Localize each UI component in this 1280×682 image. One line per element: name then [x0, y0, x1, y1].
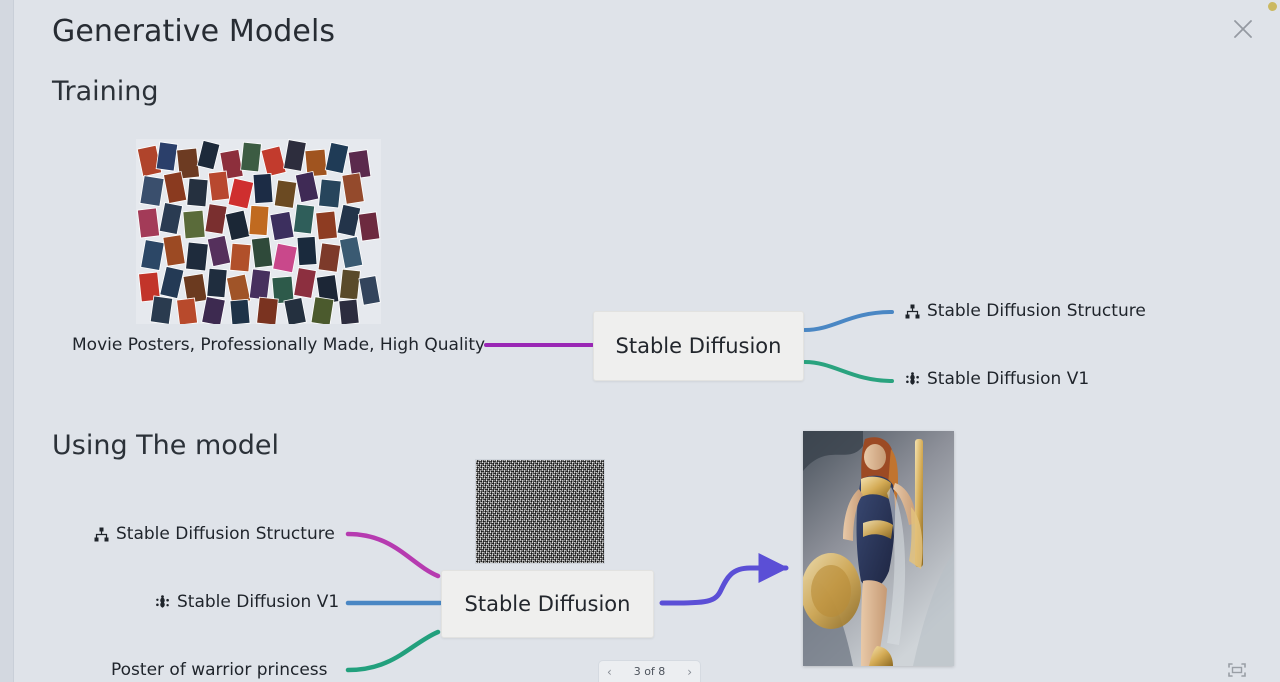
using-input-structure[interactable]: Stable Diffusion Structure [94, 526, 335, 543]
training-center-node-label: Stable Diffusion [616, 334, 782, 358]
using-center-node-label: Stable Diffusion [465, 592, 631, 616]
prev-page-button[interactable]: ‹ [607, 665, 612, 679]
training-output-v1-label: Stable Diffusion V1 [927, 371, 1089, 388]
training-output-structure-label: Stable Diffusion Structure [927, 303, 1146, 320]
generated-output-image [803, 431, 954, 666]
structure-icon [905, 304, 920, 319]
edge-prompt-to-node-using [348, 632, 438, 670]
training-input-label: Movie Posters, Professionally Made, High… [72, 337, 485, 354]
edge-structure-to-node [348, 534, 438, 576]
training-output-v1[interactable]: Stable Diffusion V1 [905, 371, 1089, 388]
training-output-structure[interactable]: Stable Diffusion Structure [905, 303, 1146, 320]
edge-node-to-v1 [805, 362, 892, 381]
status-dot [1268, 2, 1277, 11]
pagination[interactable]: ‹ 3 of 8 › [598, 660, 701, 682]
using-input-structure-label: Stable Diffusion Structure [116, 526, 335, 543]
using-center-node[interactable]: Stable Diffusion [441, 570, 654, 638]
edge-node-to-output [662, 568, 786, 603]
left-edge-strip [0, 0, 14, 682]
edge-node-to-structure [805, 312, 892, 330]
noise-texture [476, 460, 604, 563]
page-title: Generative Models [52, 14, 335, 49]
training-input-text: Movie Posters, Professionally Made, High… [72, 337, 485, 354]
slide-canvas: Generative Models Training Using The mod… [14, 0, 1280, 682]
using-input-v1-label: Stable Diffusion V1 [177, 594, 339, 611]
section-heading-training: Training [52, 76, 159, 107]
using-input-prompt-label: Poster of warrior princess [111, 662, 328, 679]
using-input-v1[interactable]: Stable Diffusion V1 [155, 594, 339, 611]
training-center-node[interactable]: Stable Diffusion [593, 311, 804, 381]
section-heading-using: Using The model [52, 430, 279, 461]
fullscreen-icon[interactable] [1226, 660, 1248, 680]
model-icon [905, 372, 920, 387]
page-indicator: 3 of 8 [634, 665, 666, 678]
noise-latent-image [475, 459, 605, 564]
structure-icon [94, 527, 109, 542]
close-icon[interactable] [1228, 14, 1258, 44]
movie-poster-collage-image [136, 139, 381, 324]
model-icon [155, 595, 170, 610]
using-input-prompt: Poster of warrior princess [111, 662, 328, 679]
next-page-button[interactable]: › [687, 665, 692, 679]
